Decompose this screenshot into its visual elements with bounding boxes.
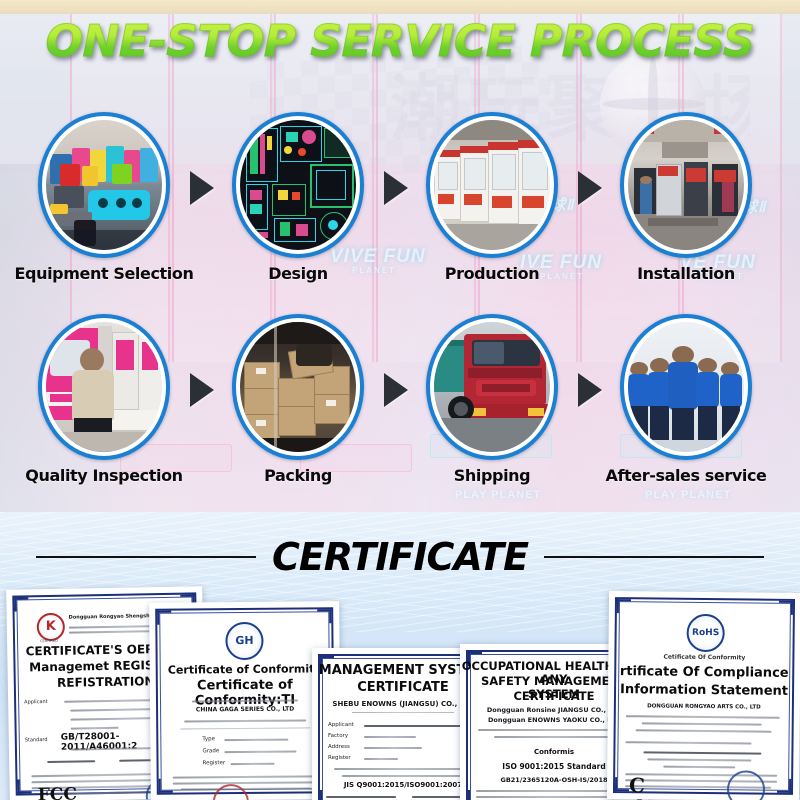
page-root: 潮玩聚乐场 VIVE FUN IVE FUN VE FUN PLANET PLA… bbox=[0, 0, 800, 800]
cert-title-line2: Information Statement bbox=[608, 683, 800, 700]
step-label: Installation bbox=[586, 264, 786, 283]
cert-field-label: Register bbox=[203, 760, 226, 766]
step-photo bbox=[628, 120, 744, 250]
cert-corner-ornament bbox=[777, 779, 791, 793]
ce-mark-icon: C bbox=[629, 773, 645, 797]
red-truck-photo bbox=[434, 322, 550, 452]
cert-field-label: Applicant bbox=[24, 699, 48, 705]
step-label: After-sales service bbox=[586, 466, 786, 485]
step-photo bbox=[628, 322, 744, 452]
workshop-assembly-photo bbox=[628, 120, 744, 250]
cert-corner-ornament bbox=[157, 611, 171, 625]
right-triangle-arrow-icon bbox=[384, 171, 408, 205]
fcc-mark-icon: FCC bbox=[38, 785, 77, 800]
cert-corner-ornament bbox=[317, 609, 331, 623]
cert-field-label: Register bbox=[328, 755, 351, 761]
right-triangle-arrow-icon bbox=[578, 171, 602, 205]
certificate-document-5[interactable]: RoHS Cetificate Of Conformity rtificate … bbox=[607, 591, 800, 800]
cert-corner-ornament bbox=[159, 779, 173, 793]
page-title: ONE-STOP SERVICE PROCESS bbox=[0, 16, 800, 67]
step-label: Quality Inspection bbox=[4, 466, 204, 485]
certificate-heading: CERTIFICATE bbox=[272, 535, 528, 579]
cert-corner-ornament bbox=[17, 779, 31, 793]
cert-field-label: Address bbox=[328, 744, 350, 750]
rohs-seal-logo-icon: RoHS bbox=[686, 614, 724, 652]
certificate-section: CERTIFICATE K CERTIFIED Dongguan Rongyao… bbox=[0, 512, 800, 800]
process-section: 潮玩聚乐场 VIVE FUN IVE FUN VE FUN PLANET PLA… bbox=[0, 0, 800, 512]
step-label: Production bbox=[392, 264, 592, 283]
cert-field-label: Factory bbox=[328, 733, 348, 739]
team-photo bbox=[628, 322, 744, 452]
gh-seal-logo-icon: GH bbox=[225, 622, 263, 660]
claw-machine-line-photo bbox=[434, 120, 550, 250]
right-triangle-arrow-icon bbox=[384, 373, 408, 407]
step-label: Design bbox=[198, 264, 398, 283]
step-photo bbox=[240, 120, 356, 250]
cert-field-label: Grade bbox=[202, 748, 219, 754]
cert-corner-ornament bbox=[617, 599, 631, 613]
cert-title: rtificate Of Compliance bbox=[608, 665, 800, 682]
heading-rule-left bbox=[36, 556, 256, 558]
cert-corner-ornament bbox=[14, 597, 28, 611]
cert-corner-ornament bbox=[779, 601, 793, 615]
right-triangle-arrow-icon bbox=[190, 171, 214, 205]
step-photo bbox=[46, 120, 162, 250]
step-photo bbox=[46, 322, 162, 452]
cad-drawing-photo bbox=[240, 120, 356, 250]
cert-field-label: Standard bbox=[25, 737, 48, 743]
step-label: Shipping bbox=[392, 466, 592, 485]
right-triangle-arrow-icon bbox=[578, 373, 602, 407]
arcade-hall-photo bbox=[46, 120, 162, 250]
step-photo bbox=[434, 120, 550, 250]
heading-rule-right bbox=[544, 556, 764, 558]
cert-field-label: Type bbox=[202, 736, 215, 742]
cartons-photo bbox=[240, 322, 356, 452]
right-triangle-arrow-icon bbox=[190, 373, 214, 407]
step-label: Packing bbox=[198, 466, 398, 485]
cert-corner-ornament bbox=[320, 790, 334, 800]
top-cream-strip bbox=[0, 0, 800, 14]
cert-field-label: Applicant bbox=[328, 722, 354, 728]
step-label: Equipment Selection bbox=[4, 264, 204, 283]
step-photo bbox=[434, 322, 550, 452]
certificate-heading-row: CERTIFICATE bbox=[0, 534, 800, 580]
step-photo bbox=[240, 322, 356, 452]
cert-logo-subtext: CERTIFIED bbox=[29, 639, 69, 644]
inspector-photo bbox=[46, 322, 162, 452]
